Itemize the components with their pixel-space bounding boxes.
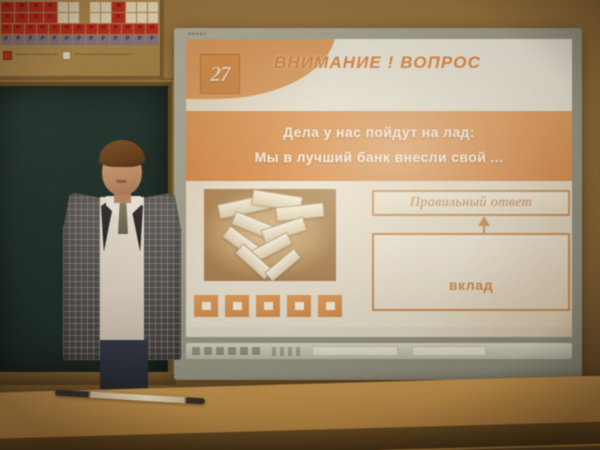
whiteboard-brand-label: SMART — [188, 31, 207, 36]
slide-question-band: Дела у нас пойдут на лад: Мы в лучший ба… — [186, 111, 572, 181]
chart-cell — [80, 2, 90, 12]
legend-label: выходные и праздничные дни — [16, 53, 58, 57]
chart-cell — [90, 13, 100, 23]
chart-cell: Н — [112, 2, 125, 12]
toolbar-separator — [264, 347, 268, 355]
whiteboard-toolbar[interactable] — [186, 343, 572, 359]
undo-tool-icon[interactable] — [272, 347, 276, 356]
chart-cell: Н — [61, 24, 72, 34]
tool-tray-slot-2[interactable] — [412, 346, 486, 356]
chart-cell — [148, 13, 158, 23]
chart-cell: Н — [1, 13, 14, 23]
chart-cell — [58, 2, 68, 12]
chart-cell: Р — [134, 35, 145, 45]
legend-label: рабочие дни сокращённой длительности — [75, 53, 132, 57]
slide-header: 27 ВНИМАНИЕ ! ВОПРОС — [186, 39, 572, 111]
chart-cell: Р — [98, 35, 109, 45]
chart-cell — [137, 2, 147, 12]
chart-cell — [101, 2, 111, 12]
slide-body: Правильный ответ вклад — [186, 181, 572, 327]
chart-cell: Н — [15, 13, 28, 23]
pen-tool-icon[interactable] — [192, 347, 200, 355]
chart-cell: Р — [146, 35, 157, 45]
chart-cell: Н — [25, 24, 36, 34]
chart-cell: Н — [29, 13, 42, 23]
line-tool-icon[interactable] — [240, 347, 248, 355]
chart-legend: выходные и праздничные дни рабочие дни с… — [0, 48, 158, 62]
chart-cell: Н — [112, 13, 125, 23]
chart-cell — [148, 2, 158, 12]
filmstrip-frame — [194, 295, 218, 317]
chart-cell: Р — [49, 35, 60, 45]
capture-tool-icon[interactable] — [288, 347, 292, 356]
legend-swatch-white-icon — [62, 51, 71, 60]
chart-row: Н Н Н Н Н Н Н Н Н Н Н Н Н — [0, 23, 158, 34]
chart-cell: Р — [1, 35, 12, 45]
chart-cell — [126, 13, 136, 23]
chart-cell: Н — [37, 24, 48, 34]
chart-cell — [126, 2, 136, 12]
chart-cell: Н — [122, 24, 133, 34]
chart-row: Р Р Р Р Р Р Р Р Р Р Р Р Р — [0, 34, 158, 45]
filmstrip-frame — [225, 295, 249, 317]
redo-tool-icon[interactable] — [280, 347, 284, 356]
chart-cell: Н — [29, 2, 42, 12]
chart-cell: Н — [1, 2, 14, 12]
chart-cell: Н — [98, 24, 109, 34]
chart-cell: Р — [122, 35, 133, 45]
chart-cell — [90, 2, 100, 12]
slide-logo: 27 — [200, 54, 240, 94]
slide-title: ВНИМАНИЕ ! ВОПРОС — [274, 53, 560, 73]
tool-tray-slot-1[interactable] — [312, 346, 398, 356]
correct-answer-banner-label: Правильный ответ — [410, 195, 532, 211]
chart-cell: Н — [110, 24, 121, 34]
question-line-2: Мы в лучший банк внесли свой ... — [194, 145, 564, 170]
question-line-1: Дела у нас пойдут на лад: — [194, 120, 564, 145]
chart-row: Н Н Н Н Н — [0, 12, 158, 23]
chart-cell — [101, 13, 111, 23]
highlighter-tool-icon[interactable] — [216, 347, 224, 355]
chart-cell: Н — [1, 24, 12, 34]
shape-tool-icon[interactable] — [228, 347, 236, 355]
chart-cell: Н — [13, 24, 24, 34]
presenter — [56, 140, 186, 390]
trousers — [100, 340, 148, 392]
chart-cell: Н — [146, 24, 157, 34]
chart-cell: Р — [37, 35, 48, 45]
logo-mark-text: 27 — [211, 62, 230, 87]
chart-row: Н Н Н Н Н — [0, 1, 158, 12]
chart-cell — [137, 13, 147, 23]
chart-cell: Н — [44, 2, 57, 12]
chart-cell: Р — [86, 35, 97, 45]
chart-cell: Р — [25, 35, 36, 45]
classroom-photo: Н Н Н Н Н Н Н Н Н Н — [0, 0, 600, 450]
chart-cell: Н — [49, 24, 60, 34]
filmstrip-frame — [318, 295, 342, 317]
chart-cell — [58, 13, 68, 23]
answer-value-box: вклад — [372, 233, 570, 311]
chart-cell: Р — [110, 35, 121, 45]
chart-cell: Н — [15, 2, 28, 12]
projected-slide: 27 ВНИМАНИЕ ! ВОПРОС Дела у нас пойдут н… — [186, 39, 572, 337]
filmstrip-frame — [256, 295, 280, 317]
wall-seam — [162, 0, 164, 80]
chart-cell: Н — [73, 24, 84, 34]
hair — [99, 140, 145, 167]
money-photo-image — [204, 189, 336, 281]
chart-cell — [69, 2, 79, 12]
chart-cell: Р — [73, 35, 84, 45]
wall-chart: Н Н Н Н Н Н Н Н Н Н — [0, 0, 162, 78]
eraser-tool-icon[interactable] — [204, 347, 212, 355]
legend-swatch-red-icon — [3, 51, 12, 60]
chart-cell — [69, 13, 79, 23]
chart-cell: Н — [134, 24, 145, 34]
chart-cell — [80, 13, 90, 23]
correct-answer-banner: Правильный ответ — [372, 190, 570, 216]
chart-cell: Р — [61, 35, 72, 45]
chart-cell: Н — [86, 24, 97, 34]
select-tool-icon[interactable] — [252, 347, 260, 355]
wall-seam-horizontal — [0, 78, 176, 80]
filmstrip-frame — [287, 295, 311, 317]
filmstrip-thumbnails — [194, 295, 342, 317]
keyboard-tool-icon[interactable] — [296, 347, 300, 356]
answer-value-label: вклад — [449, 277, 493, 293]
chart-cell: Н — [44, 13, 57, 23]
interactive-whiteboard[interactable]: SMART 27 ВНИМАНИЕ ! ВОПРОС Дела у нас по… — [174, 28, 582, 380]
mouth — [116, 180, 127, 183]
chart-cell: Р — [13, 35, 24, 45]
